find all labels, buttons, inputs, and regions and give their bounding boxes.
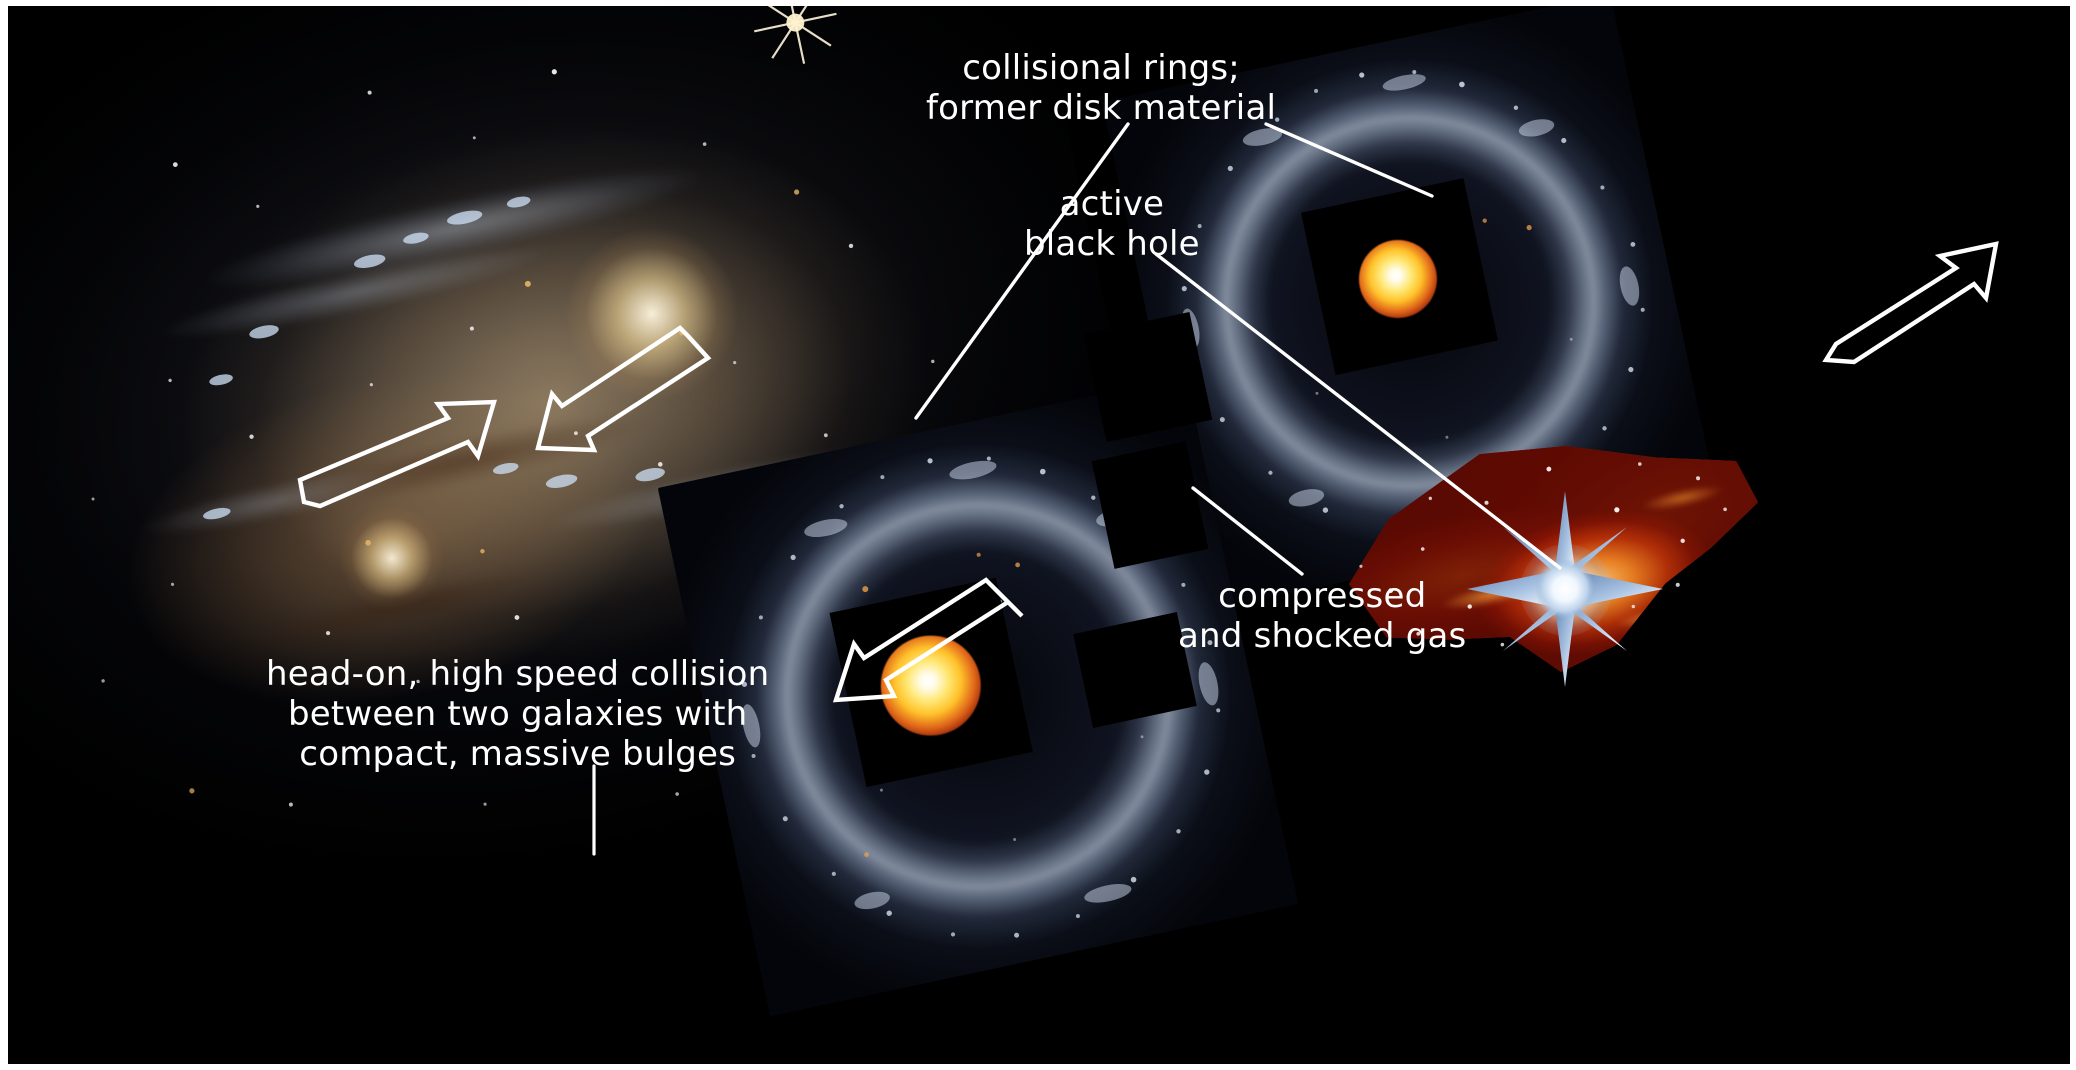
mosaic-gap-b	[1084, 312, 1213, 442]
caption-line: compact, massive bulges	[266, 734, 769, 774]
caption-line: black hole	[1024, 224, 1200, 264]
black-hole-glow	[1520, 544, 1612, 636]
caption-line: active	[1024, 184, 1200, 224]
caption-active-black-hole: active black hole	[1024, 184, 1200, 264]
caption-head-on-collision: head-on, high speed collision between tw…	[266, 654, 769, 774]
sky-background: collisional rings; former disk material …	[8, 6, 2070, 1064]
caption-compressed-gas: compressed and shocked gas	[1178, 576, 1466, 656]
arrow-ring-upper	[1826, 244, 1996, 362]
caption-line: head-on, high speed collision	[266, 654, 769, 694]
caption-line: between two galaxies with	[266, 694, 769, 734]
caption-line: compressed	[1178, 576, 1466, 616]
caption-line: collisional rings;	[926, 48, 1276, 88]
figure-canvas: collisional rings; former disk material …	[0, 0, 2076, 1070]
caption-line: and shocked gas	[1178, 616, 1466, 656]
caption-collisional-rings: collisional rings; former disk material	[926, 48, 1276, 128]
caption-line: former disk material	[926, 88, 1276, 128]
